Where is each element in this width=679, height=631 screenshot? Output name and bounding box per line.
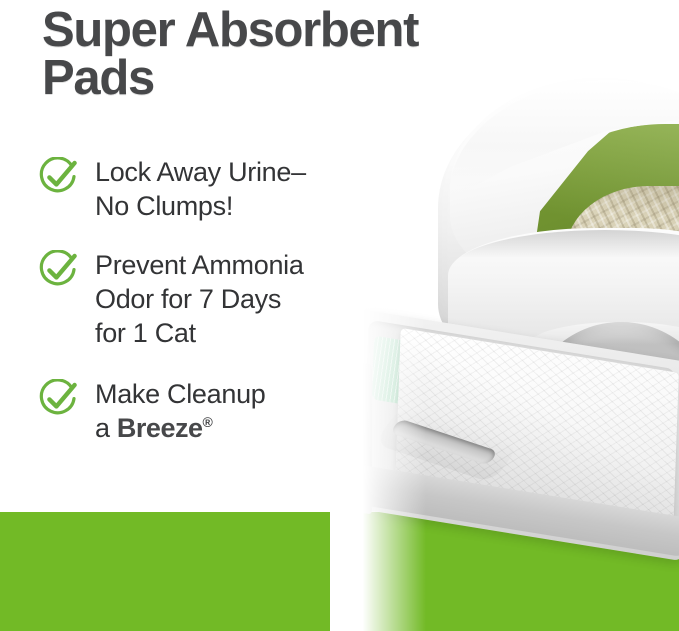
promotional-banner: Super AbsorbentPads Lock Away Urine–No C… xyxy=(0,0,679,631)
benefit-item-prevent-ammonia-odor: Prevent AmmoniaOdor for 7 Daysfor 1 Cat xyxy=(36,248,426,350)
benefit-text: Lock Away Urine–No Clumps! xyxy=(95,155,426,223)
benefit-line-2: Odor for 7 Days xyxy=(95,284,281,314)
benefit-line-3: for 1 Cat xyxy=(95,318,196,348)
benefit-line-2: No Clumps! xyxy=(95,191,233,221)
headline-line-2: Pads xyxy=(42,51,154,105)
benefit-item-lock-away-urine: Lock Away Urine–No Clumps! xyxy=(36,155,426,223)
text-column: Super AbsorbentPads Lock Away Urine–No C… xyxy=(0,0,430,512)
benefit-line-1: Prevent Ammonia xyxy=(95,250,304,280)
brand-name-breeze: Breeze xyxy=(117,413,203,443)
check-circle-icon xyxy=(36,250,80,292)
check-circle-icon xyxy=(36,157,80,199)
benefit-item-make-cleanup-a-breeze: Make Cleanupa Breeze® xyxy=(36,377,426,445)
benefit-text: Prevent AmmoniaOdor for 7 Daysfor 1 Cat xyxy=(95,248,426,350)
headline-line-1: Super Absorbent xyxy=(42,3,418,57)
benefit-line-2-prefix: a xyxy=(95,413,117,443)
benefit-line-1: Make Cleanup xyxy=(95,379,266,409)
benefit-text: Make Cleanupa Breeze® xyxy=(95,377,426,445)
page-title: Super AbsorbentPads xyxy=(42,6,422,102)
registered-trademark-symbol: ® xyxy=(202,414,212,430)
benefit-line-1: Lock Away Urine– xyxy=(95,157,306,187)
benefits-list: Lock Away Urine–No Clumps! Prevent Ammon… xyxy=(36,155,426,445)
check-circle-icon xyxy=(36,379,80,421)
